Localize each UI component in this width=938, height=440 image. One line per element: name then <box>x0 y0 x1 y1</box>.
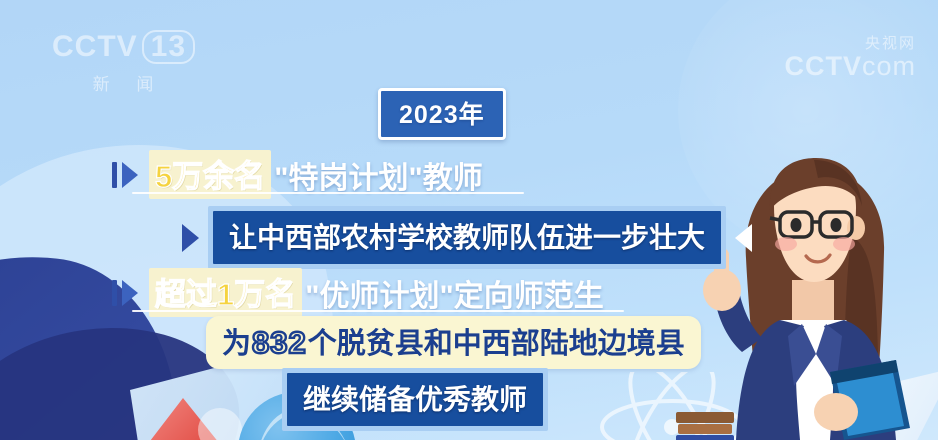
statement-1-text: 让中西部农村学校教师队伍进一步壮大 <box>229 222 705 253</box>
year-badge: 2023年 <box>378 88 506 140</box>
arrow-right-icon <box>182 224 199 252</box>
graphic-content: 2023年 5万余名 "特岗计划"教师 让中西部农村学校教师队伍进一步壮大 <box>0 0 938 440</box>
statement-row-2: 继续储备优秀教师 <box>282 368 548 431</box>
bullet-marker-icon-secondary <box>112 280 138 306</box>
statement-band: 让中西部农村学校教师队伍进一步壮大 <box>213 211 721 264</box>
detail-1-prefix: 为 <box>222 328 251 360</box>
statement-band-frame: 让中西部农村学校教师队伍进一步壮大 <box>208 206 726 269</box>
statement-2-text: 继续储备优秀教师 <box>303 384 527 415</box>
statement-band-frame-secondary: 继续储备优秀教师 <box>282 368 548 431</box>
detail-1-number: 832 <box>252 325 307 360</box>
stat-row-1-underline <box>132 192 524 194</box>
bullet-marker-icon <box>112 162 138 188</box>
stat-2-text: "优师计划"定向师范生 <box>305 271 603 315</box>
year-label: 2023年 <box>399 101 485 129</box>
arrow-left-icon <box>735 224 752 252</box>
statement-band-secondary: 继续储备优秀教师 <box>287 373 543 426</box>
stat-1-text: "特岗计划"教师 <box>274 153 482 197</box>
news-graphic-stage: CCTV13 新 闻 央视网 CCTVcom 2023年 5万余名 "特岗计划"… <box>0 0 938 440</box>
statement-row-1: 让中西部农村学校教师队伍进一步壮大 <box>182 206 752 269</box>
detail-row-1: 为832个脱贫县和中西部陆地边境县 <box>206 316 701 369</box>
detail-1-suffix: 个脱贫县和中西部陆地边境县 <box>308 328 685 360</box>
stat-row-2-underline <box>132 310 624 312</box>
